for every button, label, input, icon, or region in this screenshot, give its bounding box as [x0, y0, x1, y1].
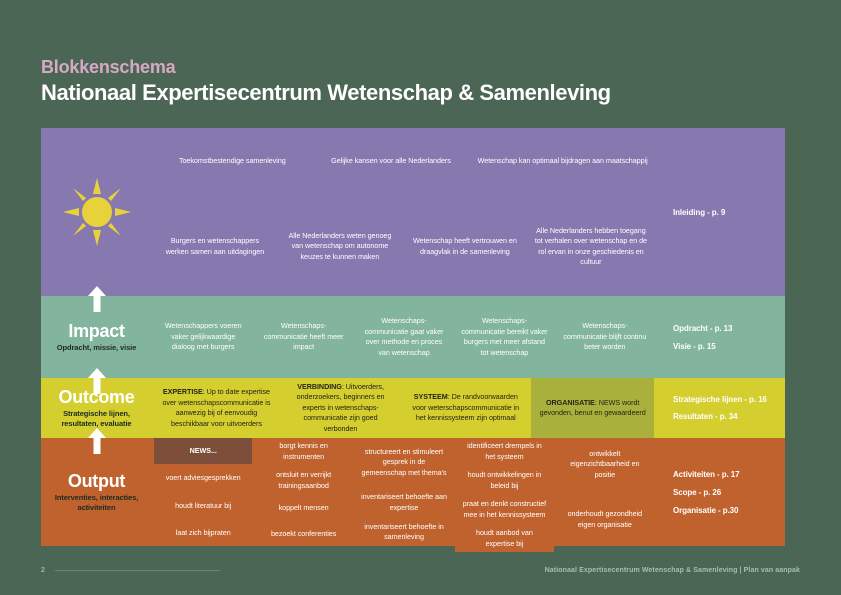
vision-cell[interactable]: Toekomstbestendige samenleving: [154, 128, 311, 195]
page-header: Blokkenschema Nationaal Expertisecentrum…: [41, 57, 611, 106]
vision-row-1: Toekomstbestendige samenleving Gelijke k…: [154, 128, 654, 195]
reference-link[interactable]: Strategische lijnen - p. 16: [673, 394, 785, 405]
reference-link[interactable]: Activiteiten - p. 17: [673, 469, 785, 480]
footer-divider: [55, 570, 220, 571]
outcome-lead: ORGANISATIE: [546, 398, 595, 407]
impact-title: Impact: [68, 321, 124, 341]
output-column: borgt kennis en instrumenten ontsluit en…: [254, 438, 352, 546]
vision-label-column: [41, 128, 152, 296]
impact-cell[interactable]: Wetenschaps-communicatie heeft meer impa…: [254, 296, 352, 378]
output-subtitle: Interventies, interacties, activiteiten: [45, 493, 148, 513]
output-cell[interactable]: identificeert drempels in het systeem: [455, 438, 553, 465]
impact-cell[interactable]: Wetenschappers voeren vaker gelijkwaardi…: [154, 296, 252, 378]
output-cell[interactable]: praat en denkt constructief mee in het k…: [455, 496, 553, 523]
reference-link[interactable]: Resultaten - p. 34: [673, 411, 785, 422]
outcome-cell-expertise[interactable]: EXPERTISE: Up to date expertise over wet…: [154, 378, 279, 438]
vision-grid: Toekomstbestendige samenleving Gelijke k…: [152, 128, 654, 296]
vision-cell[interactable]: Gelijke kansen voor alle Nederlanders: [313, 128, 470, 195]
output-cell[interactable]: borgt kennis en instrumenten: [254, 438, 352, 465]
page-number: 2: [41, 567, 55, 574]
page-title: Nationaal Expertisecentrum Wetenschap & …: [41, 80, 611, 106]
outcome-lead: SYSTEEM: [414, 392, 448, 401]
outcome-grid: EXPERTISE: Up to date expertise over wet…: [152, 378, 654, 438]
output-cell-news[interactable]: NEWS...: [154, 438, 252, 464]
outcome-cell-systeem[interactable]: SYSTEEM: De randvoorwaarden voor wetersc…: [402, 378, 529, 438]
output-reference-column: Activiteiten - p. 17 Scope - p. 26 Organ…: [659, 438, 785, 546]
outcome-label-column: Outcome Strategische lijnen, resultaten,…: [41, 378, 152, 438]
vision-cell[interactable]: Wetenschap heeft vertrouwen en draagvlak…: [404, 197, 526, 296]
outcome-cell-verbinding[interactable]: VERBINDING: Uitvoerders, onderzoekers, b…: [281, 378, 400, 438]
output-cell[interactable]: houdt literatuur bij: [154, 493, 252, 519]
outcome-cell-organisatie[interactable]: ORGANISATIE: NEWS wordt gevonden, benut …: [531, 378, 654, 438]
output-cell[interactable]: voert adviesgesprekken: [154, 466, 252, 492]
output-cell[interactable]: laat zich bijpraten: [154, 521, 252, 547]
outcome-subtitle: Strategische lijnen, resultaten, evaluat…: [45, 409, 148, 429]
reference-link[interactable]: Inleiding - p. 9: [673, 207, 785, 218]
reference-link[interactable]: Scope - p. 26: [673, 487, 785, 498]
reference-link[interactable]: Opdracht - p. 13: [673, 323, 785, 334]
impact-cell[interactable]: Wetenschaps-communicatie gaat vaker over…: [355, 296, 453, 378]
output-column: structureert en stimuleert gesprek in de…: [355, 438, 453, 546]
output-cell[interactable]: koppelt mensen: [254, 496, 352, 520]
outcome-row: EXPERTISE: Up to date expertise over wet…: [154, 378, 654, 438]
impact-row: Wetenschappers voeren vaker gelijkwaardi…: [154, 296, 654, 378]
output-cell[interactable]: houdt ontwikkelingen in beleid bij: [455, 467, 553, 494]
impact-cell[interactable]: Wetenschaps-communicatie bereikt vaker b…: [455, 296, 553, 378]
output-column: identificeert drempels in het systeem ho…: [455, 438, 553, 546]
band-vision: Toekomstbestendige samenleving Gelijke k…: [41, 128, 785, 296]
impact-cell[interactable]: Wetenschaps-communicatie blijft continu …: [556, 296, 654, 378]
output-cell[interactable]: inventariseert behoefte in samenleving: [355, 519, 453, 547]
band-impact: Impact Opdracht, missie, visie Wetenscha…: [41, 296, 785, 378]
impact-label-column: Impact Opdracht, missie, visie: [41, 296, 152, 378]
output-title: Output: [68, 471, 125, 491]
vision-cell[interactable]: Wetenschap kan optimaal bijdragen aan ma…: [471, 128, 654, 195]
footer-caption: Nationaal Expertisecentrum Wetenschap & …: [545, 567, 800, 574]
outcome-lead: EXPERTISE: [163, 387, 203, 396]
output-column: ontwikkelt eigenzichtbaarheid en positie…: [556, 438, 654, 546]
outcome-lead: VERBINDING: [297, 382, 342, 391]
output-column: NEWS... voert adviesgesprekken houdt lit…: [154, 438, 252, 546]
output-cell[interactable]: houdt aanbod van expertise bij: [455, 525, 553, 552]
reference-link[interactable]: Organisatie - p.30: [673, 505, 785, 516]
sun-icon: [61, 176, 133, 248]
reference-link[interactable]: Visie - p. 15: [673, 341, 785, 352]
band-outcome: Outcome Strategische lijnen, resultaten,…: [41, 378, 785, 438]
outcome-reference-column: Strategische lijnen - p. 16 Resultaten -…: [659, 378, 785, 438]
vision-reference-column: Inleiding - p. 9: [659, 128, 785, 296]
vision-cell[interactable]: Burgers en wetenschappers werken samen a…: [154, 197, 276, 296]
band-output: Output Interventies, interacties, activi…: [41, 438, 785, 546]
page-footer: 2 Nationaal Expertisecentrum Wetenschap …: [41, 563, 800, 577]
output-cell[interactable]: bezoekt conferenties: [254, 522, 352, 546]
impact-grid: Wetenschappers voeren vaker gelijkwaardi…: [152, 296, 654, 378]
output-grid: NEWS... voert adviesgesprekken houdt lit…: [152, 438, 654, 546]
output-label-column: Output Interventies, interacties, activi…: [41, 438, 152, 546]
output-cell[interactable]: ontsluit en verrijkt trainingsaanbod: [254, 467, 352, 494]
outcome-title: Outcome: [59, 387, 135, 407]
vision-row-2: Burgers en wetenschappers werken samen a…: [154, 197, 654, 296]
output-cell[interactable]: inventariseert behoefte aan expertise: [355, 489, 453, 517]
vision-cell[interactable]: Alle Nederlanders hebben toegang tot ver…: [528, 197, 654, 296]
output-cell[interactable]: structureert en stimuleert gesprek in de…: [355, 438, 453, 487]
impact-reference-column: Opdracht - p. 13 Visie - p. 15: [659, 296, 785, 378]
blokkenschema-diagram: Toekomstbestendige samenleving Gelijke k…: [41, 128, 785, 546]
output-cell[interactable]: ontwikkelt eigenzichtbaarheid en positie: [556, 438, 654, 491]
impact-subtitle: Opdracht, missie, visie: [57, 343, 136, 353]
header-kicker: Blokkenschema: [41, 57, 611, 77]
vision-cell[interactable]: Alle Nederlanders weten genoeg van weten…: [278, 197, 402, 296]
output-cell[interactable]: onderhoudt gezondheid eigen organisatie: [556, 493, 654, 546]
